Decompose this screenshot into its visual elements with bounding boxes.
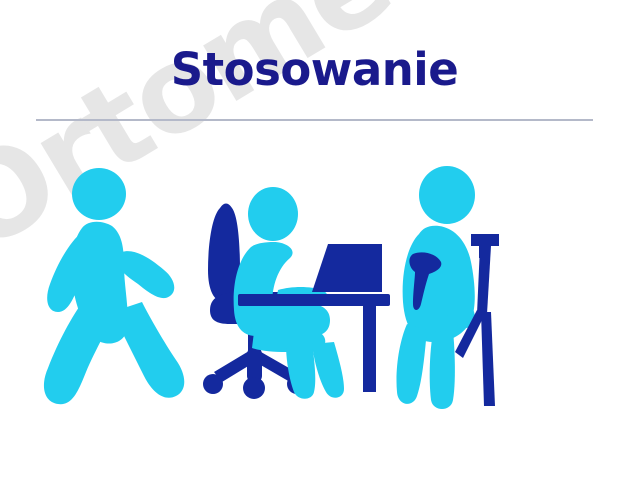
walking-person-icon — [38, 166, 198, 411]
pictogram-group — [0, 150, 629, 440]
person-at-desk-icon — [200, 186, 390, 401]
presentation-slide: Ortomedico.pl Stosowanie — [0, 0, 629, 493]
laptop-icon — [312, 244, 382, 292]
title-divider — [36, 119, 593, 121]
page-title: Stosowanie — [0, 46, 629, 93]
person-with-crutch-icon — [385, 162, 525, 417]
